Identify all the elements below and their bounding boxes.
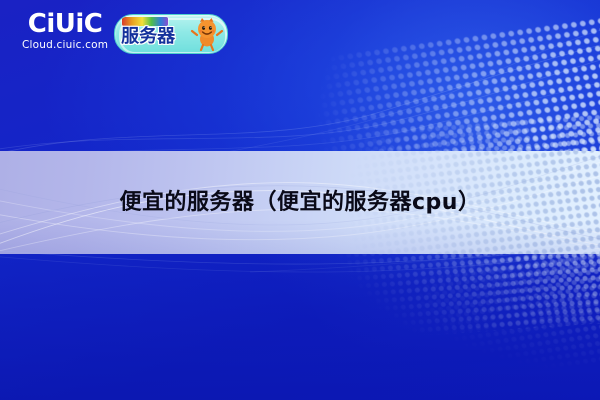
server-badge[interactable]: 服务器	[114, 14, 228, 54]
logo-text-group: CiUiC Cloud.ciuic.com	[22, 8, 108, 52]
promo-banner: 便宜的服务器（便宜的服务器cpu） CiUiC Cloud.ciuic.com …	[0, 0, 600, 400]
logo-subtitle: Cloud.ciuic.com	[22, 39, 108, 52]
logo-wordmark: CiUiC	[28, 10, 103, 38]
page-title: 便宜的服务器（便宜的服务器cpu）	[0, 188, 600, 218]
mascot-icon	[190, 17, 224, 51]
badge-label: 服务器	[121, 25, 175, 49]
brand-logo[interactable]: CiUiC Cloud.ciuic.com 服务器	[22, 8, 228, 54]
